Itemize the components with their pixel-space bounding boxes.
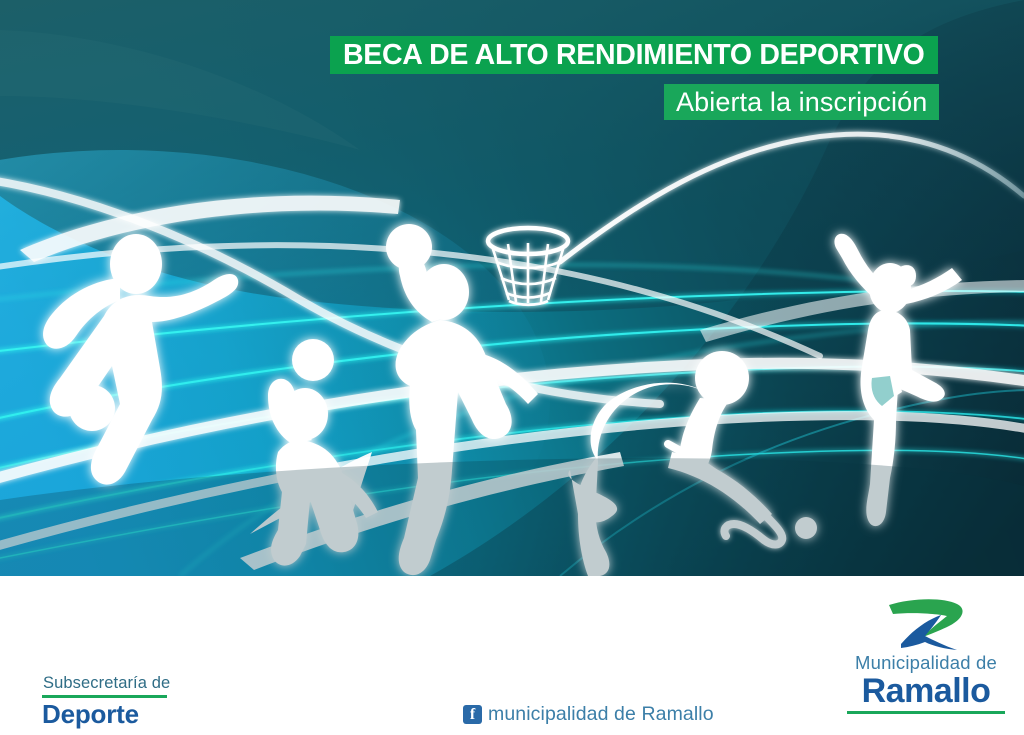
poster: BECA DE ALTO RENDIMIENTO DEPORTIVO Abier… — [0, 0, 1024, 735]
municipality-line2: Ramallo — [838, 674, 1014, 709]
subheadline-banner: Abierta la inscripción — [664, 84, 939, 120]
subsecretaria-line1: Subsecretaría de — [40, 674, 270, 693]
footer: Subsecretaría de Deporte f municipalidad… — [0, 576, 1024, 735]
volleyball-ball — [292, 339, 334, 381]
municipality-logo: Municipalidad de Ramallo — [838, 592, 1014, 714]
municipality-line1: Municipalidad de — [838, 652, 1014, 674]
facebook-icon: f — [463, 705, 482, 724]
facebook-credit[interactable]: f municipalidad de Ramallo — [463, 703, 714, 726]
ramallo-r-icon — [871, 592, 981, 654]
headline-banner: BECA DE ALTO RENDIMIENTO DEPORTIVO — [330, 36, 938, 74]
subsecretaria-logo: Subsecretaría de Deporte — [40, 674, 270, 730]
subsecretaria-line2: Deporte — [40, 699, 270, 730]
municipality-rule — [847, 711, 1005, 714]
facebook-handle-label: municipalidad de Ramallo — [488, 703, 714, 726]
subsecretaria-rule — [42, 695, 167, 698]
